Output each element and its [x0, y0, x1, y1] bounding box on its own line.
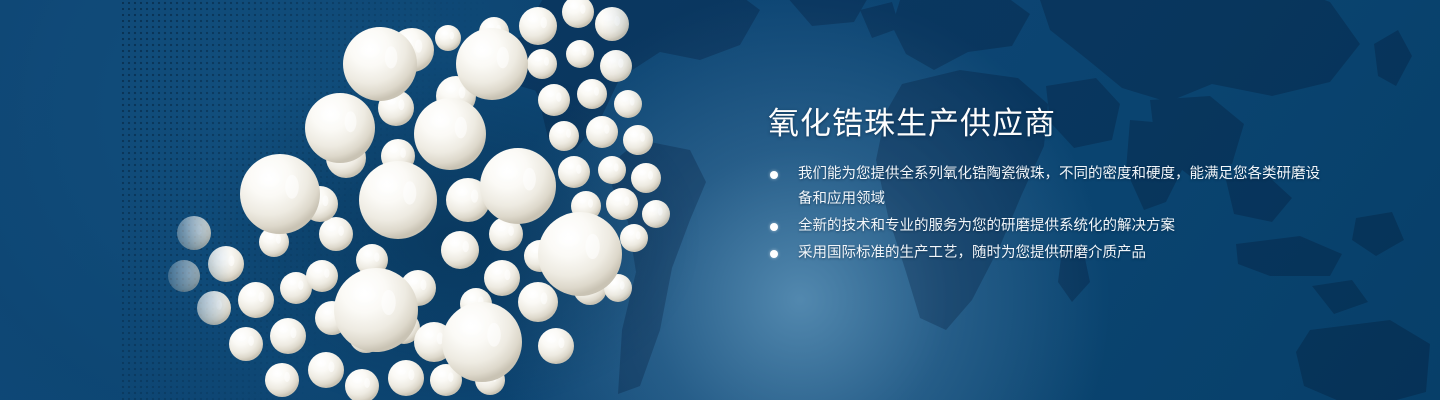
banner-bullet-list: 我们能为您提供全系列氧化锆陶瓷微珠，不同的密度和硬度，能满足您各类研磨设备和应用…: [768, 162, 1328, 266]
bullet-text: 我们能为您提供全系列氧化锆陶瓷微珠，不同的密度和硬度，能满足您各类研磨设备和应用…: [798, 166, 1320, 207]
bullet-text: 采用国际标准的生产工艺，随时为您提供研磨介质产品: [798, 245, 1146, 261]
bullet-item-3: 采用国际标准的生产工艺，随时为您提供研磨介质产品: [768, 241, 1328, 266]
bullet-dot-icon: [770, 250, 778, 258]
banner-headline: 氧化锆珠生产供应商: [768, 104, 1328, 144]
banner-copy: 氧化锆珠生产供应商 我们能为您提供全系列氧化锆陶瓷微珠，不同的密度和硬度，能满足…: [768, 104, 1328, 268]
bullet-dot-icon: [770, 223, 778, 231]
bullet-item-2: 全新的技术和专业的服务为您的研磨提供系统化的解决方案: [768, 214, 1328, 239]
bullet-item-1: 我们能为您提供全系列氧化锆陶瓷微珠，不同的密度和硬度，能满足您各类研磨设备和应用…: [768, 162, 1328, 212]
zirconia-beads-photo: [150, 0, 730, 400]
bullet-text: 全新的技术和专业的服务为您的研磨提供系统化的解决方案: [798, 218, 1175, 234]
hero-banner: 氧化锆珠生产供应商 我们能为您提供全系列氧化锆陶瓷微珠，不同的密度和硬度，能满足…: [0, 0, 1440, 400]
bullet-dot-icon: [770, 171, 778, 179]
